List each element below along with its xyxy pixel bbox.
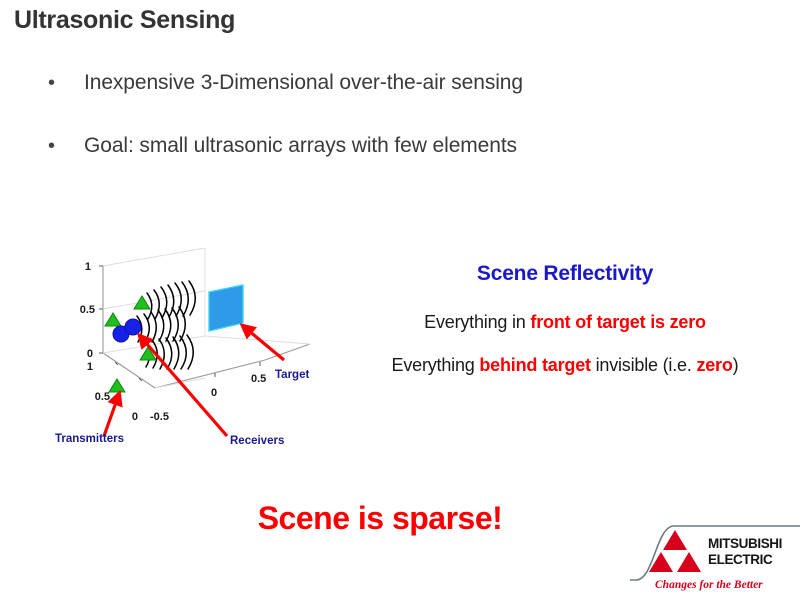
receivers-label: Receivers <box>230 435 284 447</box>
z-tick-label: 0.5 <box>80 304 95 316</box>
bullet-list: • Inexpensive 3-Dimensional over-the-air… <box>48 68 748 194</box>
reflectivity-line-1-emphasis: front of target is zero <box>530 312 705 332</box>
list-item: • Inexpensive 3-Dimensional over-the-air… <box>48 68 748 98</box>
reflectivity-line-2-emphasis-b: zero <box>696 355 732 375</box>
list-item: • Goal: small ultrasonic arrays with few… <box>48 131 748 161</box>
y-tick-label: 0 <box>132 411 138 423</box>
reflectivity-line-2-plain-a: Everything <box>392 355 480 375</box>
x-tick-label: -0.5 <box>150 411 169 423</box>
reflectivity-line-2-plain-b: invisible (i.e. <box>591 355 697 375</box>
y-tick-label: 0.5 <box>95 391 110 403</box>
z-tick-label: 1 <box>85 261 91 273</box>
bullet-text: Goal: small ultrasonic arrays with few e… <box>84 131 517 161</box>
bullet-point-icon: • <box>48 131 84 161</box>
reflectivity-line-1: Everything in front of target is zero <box>330 312 800 333</box>
page-title: Ultrasonic Sensing <box>14 6 235 35</box>
ultrasonic-scene-figure: 1 0.5 0 1 0.5 0 -0.5 0 0.5 <box>55 248 355 453</box>
scene-diagram-svg: 1 0.5 0 1 0.5 0 -0.5 0 0.5 <box>55 248 355 453</box>
scene-reflectivity-block: Scene Reflectivity Everything in front o… <box>330 262 800 398</box>
mitsubishi-electric-logo: MITSUBISHI ELECTRIC Changes for the Bett… <box>630 520 800 599</box>
bullet-point-icon: • <box>48 68 84 98</box>
y-tick-label: 1 <box>87 361 93 373</box>
z-tick-label: 0 <box>87 348 93 360</box>
axis-grid <box>103 248 310 388</box>
mitsubishi-diamond-mark <box>649 530 701 572</box>
reflectivity-heading: Scene Reflectivity <box>330 262 800 286</box>
bullet-text: Inexpensive 3-Dimensional over-the-air s… <box>84 68 523 98</box>
transmitters-label: Transmitters <box>55 433 124 445</box>
target-patch <box>209 285 243 331</box>
reflectivity-line-1-plain: Everything in <box>424 312 530 332</box>
reflectivity-line-2-emphasis-a: behind target <box>479 355 590 375</box>
reflectivity-line-2-plain-c: ) <box>733 355 739 375</box>
logo-brand-line-1: MITSUBISHI <box>708 536 782 551</box>
x-tick-label: 0 <box>211 387 217 399</box>
logo-brand-line-2: ELECTRIC <box>708 552 773 567</box>
target-label: Target <box>275 369 309 381</box>
reflectivity-line-2: Everything behind target invisible (i.e.… <box>330 355 800 376</box>
x-tick-label: 0.5 <box>251 373 266 385</box>
logo-svg: MITSUBISHI ELECTRIC Changes for the Bett… <box>630 520 800 599</box>
logo-tagline: Changes for the Better <box>655 579 763 591</box>
